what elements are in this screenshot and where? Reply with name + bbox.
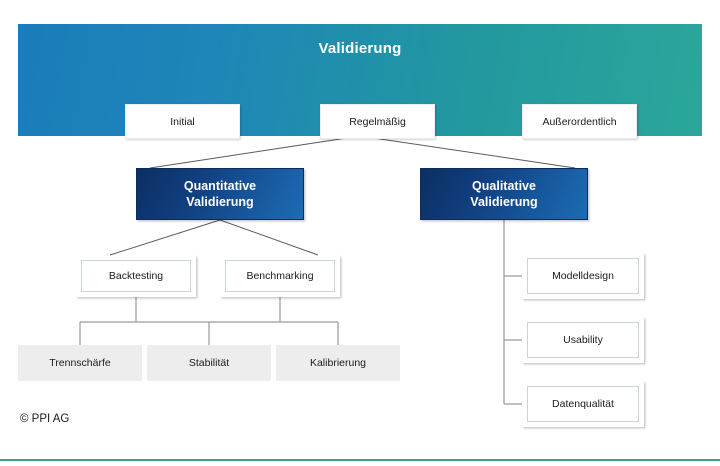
- diagram-canvas: Validierung Initial Regelmäßig Außerorde…: [0, 0, 720, 466]
- node-label-line1: Quantitative: [184, 178, 256, 195]
- node-label-line2: Validierung: [186, 194, 253, 211]
- node-inner: Usability: [527, 322, 639, 358]
- node-label: Stabilität: [189, 357, 229, 369]
- page-title: Validierung: [18, 40, 702, 57]
- node-stabilitaet[interactable]: Stabilität: [147, 345, 271, 381]
- phase-box-initial[interactable]: Initial: [125, 104, 240, 139]
- copyright-notice: © PPI AG: [20, 413, 69, 425]
- bottom-divider: [0, 459, 720, 461]
- node-datenqualitaet[interactable]: Datenqualität: [522, 381, 644, 427]
- node-inner: Benchmarking: [225, 260, 335, 292]
- connector-quantitative-to-benchmarking: [220, 220, 318, 255]
- node-modelldesign[interactable]: Modelldesign: [522, 253, 644, 299]
- connector-header-to-quantitative: [150, 136, 360, 168]
- node-kalibrierung[interactable]: Kalibrierung: [276, 345, 400, 381]
- header-band: Validierung Initial Regelmäßig Außerorde…: [18, 24, 702, 136]
- node-label: Modelldesign: [552, 270, 614, 282]
- node-label: Kalibrierung: [310, 357, 366, 369]
- connector-quantitative-to-backtesting: [110, 220, 220, 255]
- phase-box-ausserordentlich[interactable]: Außerordentlich: [522, 104, 637, 139]
- node-backtesting[interactable]: Backtesting: [76, 255, 196, 297]
- node-quantitative-validierung[interactable]: Quantitative Validierung: [136, 168, 304, 220]
- node-label: Usability: [563, 334, 603, 346]
- node-qualitative-validierung[interactable]: Qualitative Validierung: [420, 168, 588, 220]
- phase-label: Initial: [170, 116, 195, 128]
- node-label: Backtesting: [109, 270, 163, 282]
- node-label: Trennschärfe: [49, 357, 110, 369]
- node-usability[interactable]: Usability: [522, 317, 644, 363]
- node-inner: Backtesting: [81, 260, 191, 292]
- node-inner: Modelldesign: [527, 258, 639, 294]
- phase-box-regelmaessig[interactable]: Regelmäßig: [320, 104, 435, 139]
- node-label-line1: Qualitative: [472, 178, 536, 195]
- node-label: Benchmarking: [246, 270, 313, 282]
- node-inner: Datenqualität: [527, 386, 639, 422]
- phase-label: Außerordentlich: [542, 116, 616, 128]
- node-benchmarking[interactable]: Benchmarking: [220, 255, 340, 297]
- node-trennschaerfe[interactable]: Trennschärfe: [18, 345, 142, 381]
- phase-label: Regelmäßig: [349, 116, 406, 128]
- node-label: Datenqualität: [552, 398, 614, 410]
- node-label-line2: Validierung: [470, 194, 537, 211]
- connector-header-to-qualitative: [360, 136, 575, 168]
